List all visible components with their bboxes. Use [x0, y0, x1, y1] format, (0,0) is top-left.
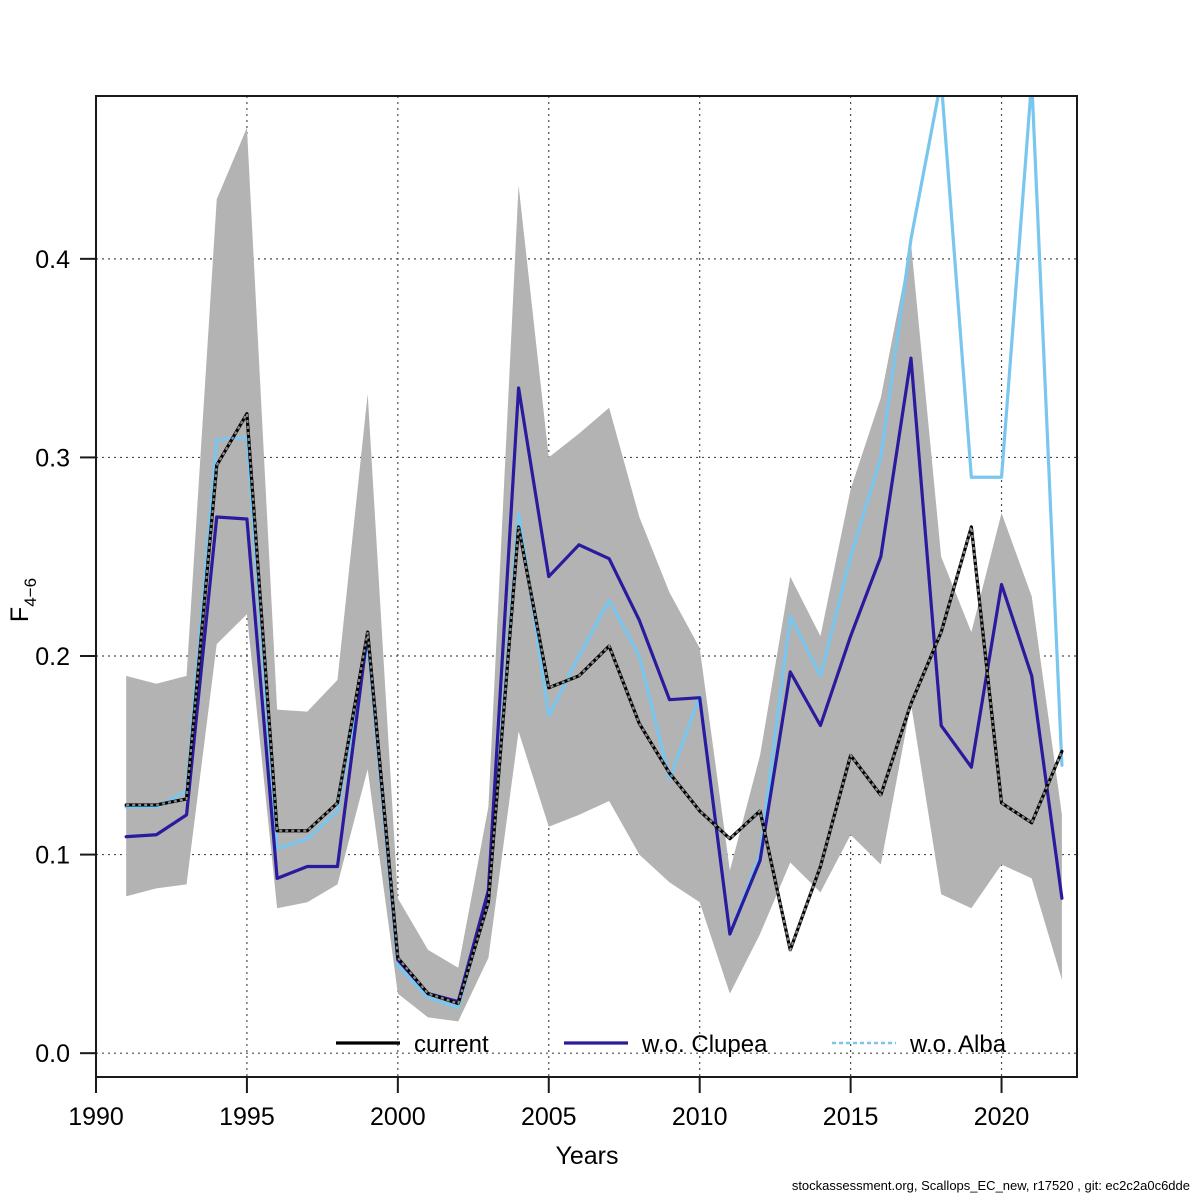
legend-label-w-o-alba: w.o. Alba: [909, 1031, 1007, 1058]
y-tick-label-0.2: 0.2: [35, 643, 70, 671]
x-tick-label-1990: 1990: [68, 1103, 124, 1131]
watermark-text: stockassessment.org, Scallops_EC_new, r1…: [792, 1178, 1190, 1193]
f4-6-time-series-chart: 1990199520002005201020152020 0.00.10.20.…: [0, 0, 1200, 1200]
y-tick-label-0.1: 0.1: [35, 842, 70, 870]
x-tick-label-2000: 2000: [370, 1103, 426, 1131]
y-tick-label-0.3: 0.3: [35, 444, 70, 472]
x-tick-label-1995: 1995: [219, 1103, 275, 1131]
x-tick-label-2010: 2010: [672, 1103, 728, 1131]
chart-page: 1990199520002005201020152020 0.00.10.20.…: [0, 0, 1200, 1200]
x-tick-label-2005: 2005: [521, 1103, 577, 1131]
y-tick-label-0.4: 0.4: [35, 246, 70, 274]
x-axis-title: Years: [555, 1142, 618, 1170]
legend-label-current: current: [414, 1031, 489, 1058]
x-tick-label-2015: 2015: [823, 1103, 879, 1131]
x-tick-label-2020: 2020: [974, 1103, 1030, 1131]
legend-label-w-o-clupea: w.o. Clupea: [641, 1031, 768, 1058]
y-tick-label-0.0: 0.0: [35, 1040, 70, 1068]
